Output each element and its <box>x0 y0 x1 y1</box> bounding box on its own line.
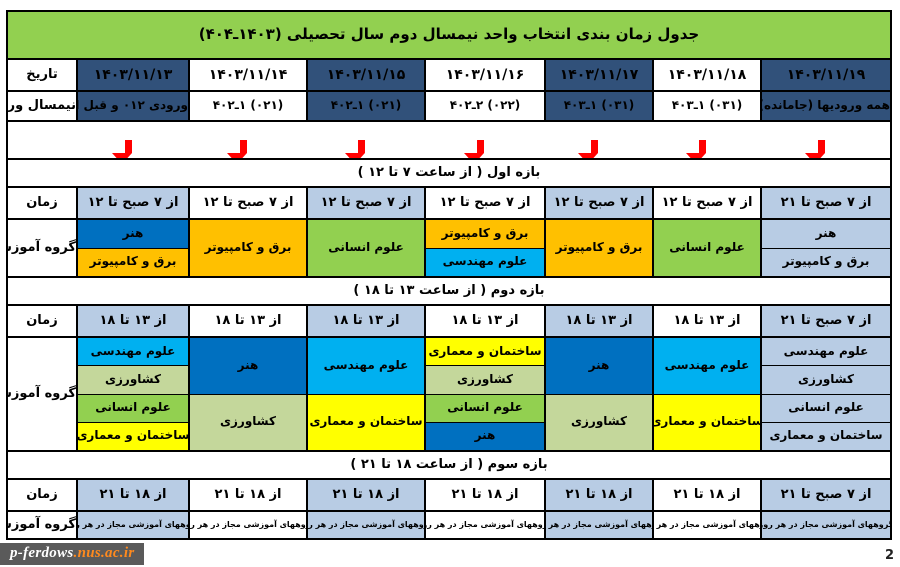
time-cell: از ۱۸ تا ۲۱ <box>77 479 189 511</box>
group-segment: علوم انسانی <box>426 395 544 423</box>
group-segment: علوم مهندسی <box>78 338 188 366</box>
entry-term-row: همه ورودیها (جامانده)(۰۳۱) ۱ـ۴۰۳(۰۳۱) ۱ـ… <box>7 91 891 121</box>
down-arrow-icon <box>306 122 424 158</box>
group-cell: گروههای آموزشی مجاز در هر روز <box>653 511 761 539</box>
group-cell: هنربرق و کامپیوتر <box>77 219 189 277</box>
band2-title: بازه دوم ( از ساعت ۱۳ تا ۱۸ ) <box>7 277 891 305</box>
time-cell: از ۱۸ تا ۲۱ <box>189 479 307 511</box>
entry-term-cell: (۰۲۲) ۲ـ۴۰۲ <box>425 91 545 121</box>
entry-term-cell: ورودی ۰۱۲ و قبل از آن <box>77 91 189 121</box>
date-row: ۱۴۰۳/۱۱/۱۹۱۴۰۳/۱۱/۱۸۱۴۰۳/۱۱/۱۷۱۴۰۳/۱۱/۱۶… <box>7 59 891 91</box>
group-segment: کشاورزی <box>426 366 544 394</box>
group-segment: هنر <box>78 220 188 249</box>
group-cell: هنرکشاورزی <box>189 337 307 451</box>
group-segment: کشاورزی <box>190 395 306 451</box>
entry-term-cell: همه ورودیها (جامانده) <box>761 91 891 121</box>
date-cell: ۱۴۰۳/۱۱/۱۸ <box>653 59 761 91</box>
row-label-group: گروه آموزشی <box>7 337 77 451</box>
entry-term-cell: (۰۳۱) ۱ـ۴۰۳ <box>545 91 653 121</box>
group-segment: گروههای آموزشی مجاز در هر روز <box>426 512 544 538</box>
date-cell: ۱۴۰۳/۱۱/۱۴ <box>189 59 307 91</box>
group-segment: برق و کامپیوتر <box>78 249 188 277</box>
group-segment: علوم انسانی <box>308 220 424 276</box>
time-cell: از ۷ صبح تا ۱۲ <box>545 187 653 219</box>
down-arrow-icon <box>760 122 890 158</box>
group-segment: برق و کامپیوتر <box>546 220 652 276</box>
group-cell: برق و کامپیوتر <box>545 219 653 277</box>
group-cell: هنرکشاورزی <box>545 337 653 451</box>
group-cell: علوم مهندسیساختمان و معماری <box>653 337 761 451</box>
group-cell: گروههای آموزشی مجاز در هر روز <box>77 511 189 539</box>
band3-time-row: از ۷ صبح تا ۲۱از ۱۸ تا ۲۱از ۱۸ تا ۲۱از ۱… <box>7 479 891 511</box>
group-segment: برق و کامپیوتر <box>426 220 544 249</box>
group-cell: علوم انسانی <box>653 219 761 277</box>
date-cell: ۱۴۰۳/۱۱/۱۹ <box>761 59 891 91</box>
time-cell: از ۱۸ تا ۲۱ <box>653 479 761 511</box>
band1-title-row: بازه اول ( از ساعت ۷ تا ۱۲ ) <box>7 159 891 187</box>
row-label-time: زمان <box>7 305 77 337</box>
group-cell: هنربرق و کامپیوتر <box>761 219 891 277</box>
time-cell: از ۷ صبح تا ۱۲ <box>189 187 307 219</box>
down-arrow-icon <box>188 122 306 158</box>
band3-title-row: بازه سوم ( از ساعت ۱۸ تا ۲۱ ) <box>7 451 891 479</box>
group-cell: ساختمان و معماریکشاورزیعلوم انسانیهنر <box>425 337 545 451</box>
group-segment: گروههای آموزشی مجاز در هر روز <box>762 512 890 538</box>
group-cell: علوم انسانی <box>307 219 425 277</box>
group-segment: علوم مهندسی <box>308 338 424 395</box>
time-cell: از ۱۳ تا ۱۸ <box>307 305 425 337</box>
band2-group-row: علوم مهندسیکشاورزیعلوم انسانیساختمان و م… <box>7 337 891 451</box>
band1-time-row: از ۷ صبح تا ۲۱از ۷ صبح تا ۱۲از ۷ صبح تا … <box>7 187 891 219</box>
date-cell: ۱۴۰۳/۱۱/۱۵ <box>307 59 425 91</box>
band1-title: بازه اول ( از ساعت ۷ تا ۱۲ ) <box>7 159 891 187</box>
group-segment: کشاورزی <box>762 366 890 394</box>
time-cell: از ۷ صبح تا ۱۲ <box>653 187 761 219</box>
group-segment: ساختمان و معماری <box>78 423 188 450</box>
group-segment: ساختمان و معماری <box>762 423 890 450</box>
page-number: 2 <box>885 548 894 563</box>
group-segment: ساختمان و معماری <box>308 395 424 451</box>
row-label-time: زمان <box>7 187 77 219</box>
group-segment: علوم انسانی <box>654 220 760 276</box>
arrow-strip <box>7 121 891 159</box>
time-cell: از ۷ صبح تا ۱۲ <box>77 187 189 219</box>
group-segment: برق و کامپیوتر <box>190 220 306 276</box>
down-arrow-icon <box>424 122 544 158</box>
group-cell: گروههای آموزشی مجاز در هر روز <box>761 511 891 539</box>
time-cell: از ۷ صبح تا ۱۲ <box>307 187 425 219</box>
group-segment: کشاورزی <box>546 395 652 451</box>
title-row: جدول زمان بندی انتخاب واحد نیمسال دوم سا… <box>7 11 891 59</box>
site-watermark: p-ferdows.nus.ac.ir <box>0 543 144 565</box>
row-label-date: تاریخ <box>7 59 77 91</box>
group-segment: علوم انسانی <box>78 395 188 423</box>
entry-term-cell: (۰۳۱) ۱ـ۴۰۳ <box>653 91 761 121</box>
schedule-sheet: جدول زمان بندی انتخاب واحد نیمسال دوم سا… <box>8 10 892 540</box>
group-segment: هنر <box>190 338 306 395</box>
group-cell: برق و کامپیوترعلوم مهندسی <box>425 219 545 277</box>
time-cell: از ۱۳ تا ۱۸ <box>545 305 653 337</box>
time-cell: از ۱۸ تا ۲۱ <box>425 479 545 511</box>
arrow-strip-spacer <box>7 122 76 158</box>
time-cell: از ۱۳ تا ۱۸ <box>653 305 761 337</box>
down-arrow-icon <box>76 122 188 158</box>
down-arrow-icon <box>544 122 652 158</box>
group-segment: برق و کامپیوتر <box>762 249 890 277</box>
down-arrow-icon <box>652 122 760 158</box>
group-segment: گروههای آموزشی مجاز در هر روز <box>546 512 652 538</box>
band3-group-row: گروههای آموزشی مجاز در هر روزگروههای آمو… <box>7 511 891 539</box>
time-cell: از ۷ صبح تا ۱۲ <box>425 187 545 219</box>
row-label-entry-term: نیمسال ورود <box>7 91 77 121</box>
group-segment: علوم مهندسی <box>426 249 544 277</box>
group-segment: گروههای آموزشی مجاز در هر روز <box>78 512 188 538</box>
group-segment: گروههای آموزشی مجاز در هر روز <box>308 512 424 538</box>
group-segment: ساختمان و معماری <box>654 395 760 451</box>
group-cell: گروههای آموزشی مجاز در هر روز <box>545 511 653 539</box>
row-label-group: گروه آموزشی <box>7 511 77 539</box>
watermark-domain: .nus.ac.ir <box>74 545 135 561</box>
group-segment: هنر <box>762 220 890 249</box>
group-segment: علوم مهندسی <box>762 338 890 366</box>
entry-term-cell: (۰۲۱) ۱ـ۴۰۲ <box>189 91 307 121</box>
group-segment: هنر <box>426 423 544 450</box>
date-cell: ۱۴۰۳/۱۱/۱۷ <box>545 59 653 91</box>
time-cell: از ۱۸ تا ۲۱ <box>307 479 425 511</box>
group-segment: علوم انسانی <box>762 395 890 423</box>
schedule-table: جدول زمان بندی انتخاب واحد نیمسال دوم سا… <box>6 10 892 540</box>
entry-term-cell: (۰۲۱) ۱ـ۴۰۲ <box>307 91 425 121</box>
page-title: جدول زمان بندی انتخاب واحد نیمسال دوم سا… <box>7 11 891 59</box>
date-cell: ۱۴۰۳/۱۱/۱۶ <box>425 59 545 91</box>
time-cell: از ۷ صبح تا ۲۱ <box>761 187 891 219</box>
time-cell: از ۱۳ تا ۱۸ <box>77 305 189 337</box>
time-cell: از ۷ صبح تا ۲۱ <box>761 479 891 511</box>
group-cell: علوم مهندسیکشاورزیعلوم انسانیساختمان و م… <box>77 337 189 451</box>
time-cell: از ۷ صبح تا ۲۱ <box>761 305 891 337</box>
group-cell: علوم مهندسیساختمان و معماری <box>307 337 425 451</box>
time-cell: از ۱۳ تا ۱۸ <box>189 305 307 337</box>
group-cell: علوم مهندسیکشاورزیعلوم انسانیساختمان و م… <box>761 337 891 451</box>
arrow-row <box>7 121 891 159</box>
group-segment: کشاورزی <box>78 366 188 394</box>
group-segment: علوم مهندسی <box>654 338 760 395</box>
group-cell: گروههای آموزشی مجاز در هر روز <box>307 511 425 539</box>
band2-time-row: از ۷ صبح تا ۲۱از ۱۳ تا ۱۸از ۱۳ تا ۱۸از ۱… <box>7 305 891 337</box>
band3-title: بازه سوم ( از ساعت ۱۸ تا ۲۱ ) <box>7 451 891 479</box>
row-label-time: زمان <box>7 479 77 511</box>
watermark-name: p-ferdows <box>10 545 74 561</box>
group-segment: گروههای آموزشی مجاز در هر روز <box>654 512 760 538</box>
band2-title-row: بازه دوم ( از ساعت ۱۳ تا ۱۸ ) <box>7 277 891 305</box>
group-segment: گروههای آموزشی مجاز در هر روز <box>190 512 306 538</box>
date-cell: ۱۴۰۳/۱۱/۱۳ <box>77 59 189 91</box>
time-cell: از ۱۳ تا ۱۸ <box>425 305 545 337</box>
group-segment: هنر <box>546 338 652 395</box>
band1-group-row: هنربرق و کامپیوترعلوم انسانیبرق و کامپیو… <box>7 219 891 277</box>
group-cell: گروههای آموزشی مجاز در هر روز <box>189 511 307 539</box>
time-cell: از ۱۸ تا ۲۱ <box>545 479 653 511</box>
group-segment: ساختمان و معماری <box>426 338 544 366</box>
group-cell: گروههای آموزشی مجاز در هر روز <box>425 511 545 539</box>
group-cell: برق و کامپیوتر <box>189 219 307 277</box>
row-label-group: گروه آموزشی <box>7 219 77 277</box>
